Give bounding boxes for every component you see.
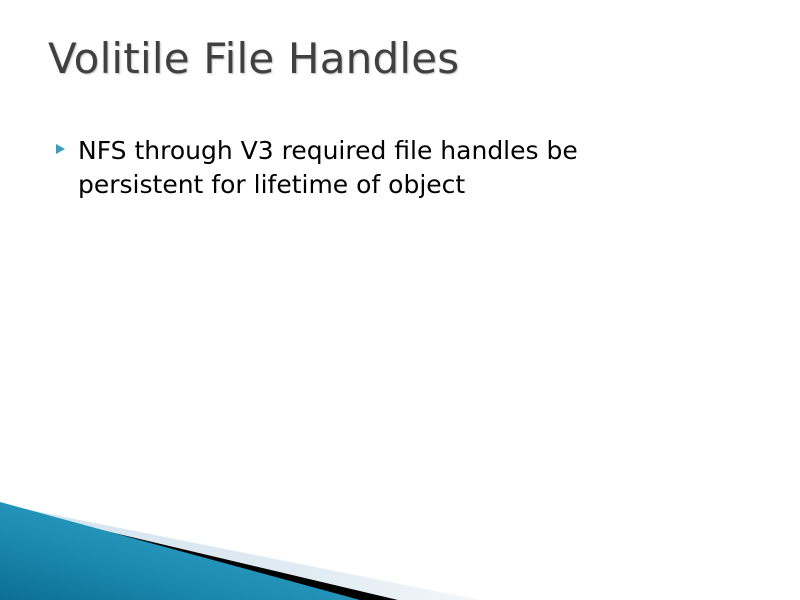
title-placeholder[interactable]: Volitile File Handles: [48, 33, 748, 95]
black-band: [0, 506, 398, 600]
teal-band: [0, 502, 360, 600]
teal-texture-overlay: [0, 502, 360, 600]
presentation-slide: Volitile File Handles NFS through V3 req…: [0, 0, 800, 600]
content-placeholder[interactable]: NFS through V3 required file handles be …: [56, 134, 716, 202]
corner-decoration-graphic: [0, 490, 800, 600]
pale-band: [0, 504, 480, 600]
page-title: Volitile File Handles: [48, 33, 748, 85]
triangle-bullet-icon: [56, 144, 65, 154]
bottom-left-diagonal-bands: [0, 490, 800, 600]
list-item[interactable]: NFS through V3 required file handles be …: [56, 134, 716, 202]
list-item-label: NFS through V3 required file handles be …: [78, 134, 678, 202]
